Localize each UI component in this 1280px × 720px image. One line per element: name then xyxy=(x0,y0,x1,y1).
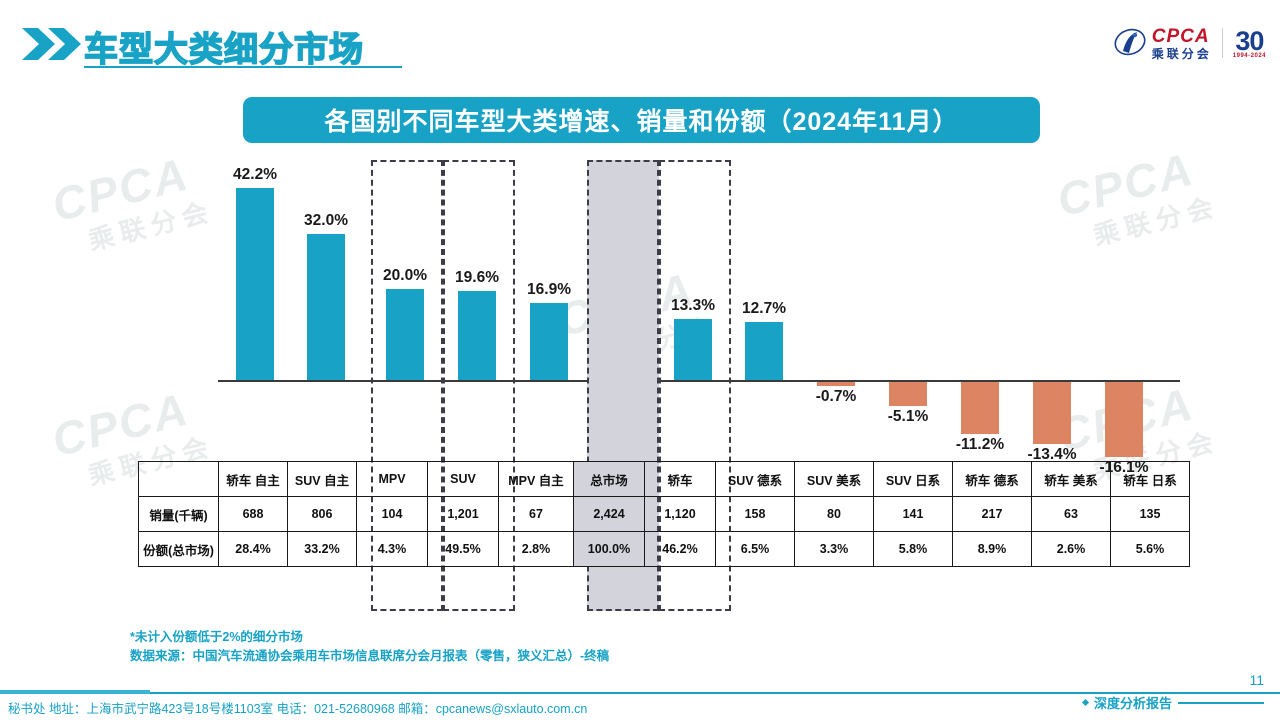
footer-contact: 秘书处 地址：上海市武宁路423号18号楼1103室 电话：021-526809… xyxy=(8,698,587,717)
table-row-label: 销量(千辆) xyxy=(139,497,219,532)
table-cell: 158 xyxy=(716,497,795,532)
table-cell: 5.6% xyxy=(1111,532,1190,567)
table-header-row: 轿车 自主 SUV 自主 MPV SUV MPV 自主 总市场 轿车 SUV 德… xyxy=(139,462,1190,497)
table-col-header: 轿车 xyxy=(645,462,716,497)
anniversary-years: 1994-2024 xyxy=(1233,53,1266,59)
double-chevron-right-icon xyxy=(22,27,90,61)
bar-rect xyxy=(307,234,345,380)
table-cell: 2.8% xyxy=(499,532,574,567)
cpca-logo-text: CPCA 乘联分会 xyxy=(1152,27,1212,60)
cpca-brand-cn: 乘联分会 xyxy=(1152,48,1212,60)
table-col-header: 轿车 自主 xyxy=(219,462,288,497)
bar-rect xyxy=(817,382,855,386)
bar-MPV自主: 16.9% xyxy=(530,150,568,380)
bar-value-label: 12.7% xyxy=(742,300,786,318)
data-table: 轿车 自主 SUV 自主 MPV SUV MPV 自主 总市场 轿车 SUV 德… xyxy=(138,461,1190,567)
table-cell: 141 xyxy=(874,497,953,532)
chart-title: 各国别不同车型大类增速、销量和份额（2024年11月） xyxy=(324,102,958,138)
bar-rect xyxy=(236,188,274,380)
bar-value-label: -5.1% xyxy=(888,408,929,426)
bar-value-label: 32.0% xyxy=(304,212,348,230)
table-col-header: MPV xyxy=(357,462,428,497)
table-col-header: 轿车 美系 xyxy=(1032,462,1111,497)
logo-divider xyxy=(1222,28,1223,58)
bar-value-label: 16.9% xyxy=(527,281,571,299)
footnote-line-1: *未计入份额低于2%的细分市场 xyxy=(130,628,609,647)
table-cell: 3.3% xyxy=(795,532,874,567)
footer-report-label: 深度分析报告 xyxy=(1094,693,1172,712)
table-cell: 806 xyxy=(288,497,357,532)
table-col-header: SUV 日系 xyxy=(874,462,953,497)
anniversary-number: 30 xyxy=(1235,28,1263,55)
table-col-header: SUV 美系 xyxy=(795,462,874,497)
table-col-header: MPV 自主 xyxy=(499,462,574,497)
page-title: 车型大类细分市场 xyxy=(84,22,364,71)
table-cell: 135 xyxy=(1111,497,1190,532)
table-cell: 46.2% xyxy=(645,532,716,567)
page-number: 11 xyxy=(1249,672,1264,688)
table-cell: 1,120 xyxy=(645,497,716,532)
table-cell: 4.3% xyxy=(357,532,428,567)
slide-header: 车型大类细分市场 xyxy=(0,0,1280,86)
chart-title-banner: 各国别不同车型大类增速、销量和份额（2024年11月） xyxy=(243,97,1040,143)
bar-rect xyxy=(745,322,783,380)
diamond-icon xyxy=(1082,699,1089,706)
cpca-emblem-icon xyxy=(1113,26,1147,60)
table-cell: 6.5% xyxy=(716,532,795,567)
table-cell: 5.8% xyxy=(874,532,953,567)
bar-rect xyxy=(1105,382,1143,457)
footnote-line-2: 数据来源：中国汽车流通协会乘用车市场信息联席分会月报表（零售，狭义汇总）-终稿 xyxy=(130,647,609,666)
footer-report-label-group: 深度分析报告 xyxy=(1083,693,1264,712)
table-cell: 1,201 xyxy=(428,497,499,532)
anniversary-logo: 30 1994-2024 xyxy=(1233,28,1266,59)
bar-rect xyxy=(530,303,568,380)
footnotes: *未计入份额低于2%的细分市场 数据来源：中国汽车流通协会乘用车市场信息联席分会… xyxy=(130,628,609,667)
table-cell: 80 xyxy=(795,497,874,532)
table-col-header: SUV xyxy=(428,462,499,497)
table-col-header: SUV 德系 xyxy=(716,462,795,497)
bar-value-label: -11.2% xyxy=(956,436,1004,454)
table-cell: 33.2% xyxy=(288,532,357,567)
table-corner-cell xyxy=(139,462,219,497)
bar-rect xyxy=(889,382,927,406)
table-cell: 8.9% xyxy=(953,532,1032,567)
bar-rect xyxy=(1033,382,1071,444)
bar-轿车自主: 42.2% xyxy=(236,150,274,380)
table-col-header: 总市场 xyxy=(574,462,645,497)
table-col-header: SUV 自主 xyxy=(288,462,357,497)
cpca-logo: CPCA 乘联分会 xyxy=(1113,26,1212,60)
table-row-label: 份额(总市场) xyxy=(139,532,219,567)
table-cell: 217 xyxy=(953,497,1032,532)
bar-rect xyxy=(961,382,999,434)
table-cell: 63 xyxy=(1032,497,1111,532)
table-cell: 688 xyxy=(219,497,288,532)
bar-SUV自主: 32.0% xyxy=(307,150,345,380)
table-cell: 28.4% xyxy=(219,532,288,567)
table-col-header: 轿车 日系 xyxy=(1111,462,1190,497)
table-cell: 67 xyxy=(499,497,574,532)
table-col-header: 轿车 德系 xyxy=(953,462,1032,497)
bar-value-label: -0.7% xyxy=(816,388,857,406)
table-cell: 49.5% xyxy=(428,532,499,567)
bar-chart: 42.2% 32.0% 20.0% 19.6% 16.9% 16.6% 13.3… xyxy=(0,150,1280,480)
table-row-sales: 销量(千辆) 688 806 104 1,201 67 2,424 1,120 … xyxy=(139,497,1190,532)
title-underline xyxy=(84,66,402,68)
footer-accent-bar xyxy=(0,690,150,694)
slide: CPCA 乘联分会 CPCA 乘联分会 CPCA 乘联分会 CPCA 乘联分会 … xyxy=(0,0,1280,720)
table-cell: 104 xyxy=(357,497,428,532)
cpca-logo-group: CPCA 乘联分会 30 1994-2024 xyxy=(1113,20,1266,66)
bar-SUV德系: 12.7% xyxy=(745,150,783,380)
cpca-brand-en: CPCA xyxy=(1152,27,1212,46)
table-cell: 2.6% xyxy=(1032,532,1111,567)
table-cell: 100.0% xyxy=(574,532,645,567)
table-cell: 2,424 xyxy=(574,497,645,532)
footer-label-rule xyxy=(1178,702,1264,704)
bar-value-label: 42.2% xyxy=(233,166,277,184)
table-row-share: 份额(总市场) 28.4% 33.2% 4.3% 49.5% 2.8% 100.… xyxy=(139,532,1190,567)
